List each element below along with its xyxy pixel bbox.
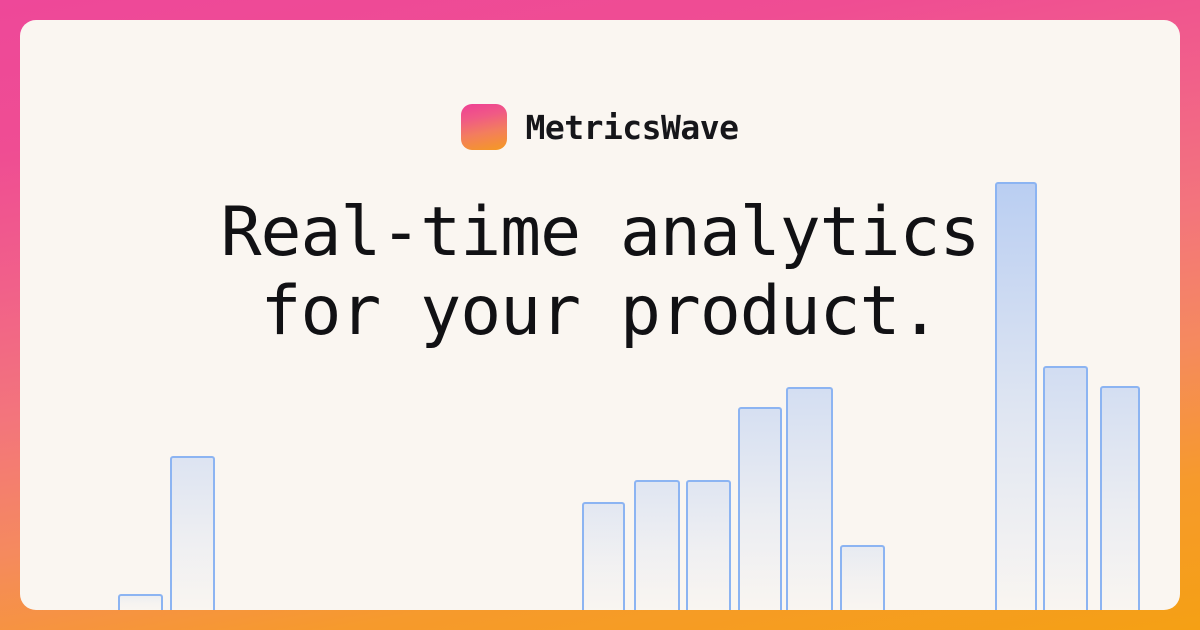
og-card: MetricsWave Real-time analytics for your… (0, 0, 1200, 630)
brand-name: MetricsWave (525, 108, 738, 147)
logo-icon (461, 104, 507, 150)
content-panel: MetricsWave Real-time analytics for your… (20, 20, 1180, 610)
brand-lockup: MetricsWave (461, 104, 738, 150)
page-title: Real-time analytics for your product. (221, 194, 980, 352)
hero-content: MetricsWave Real-time analytics for your… (20, 20, 1180, 610)
